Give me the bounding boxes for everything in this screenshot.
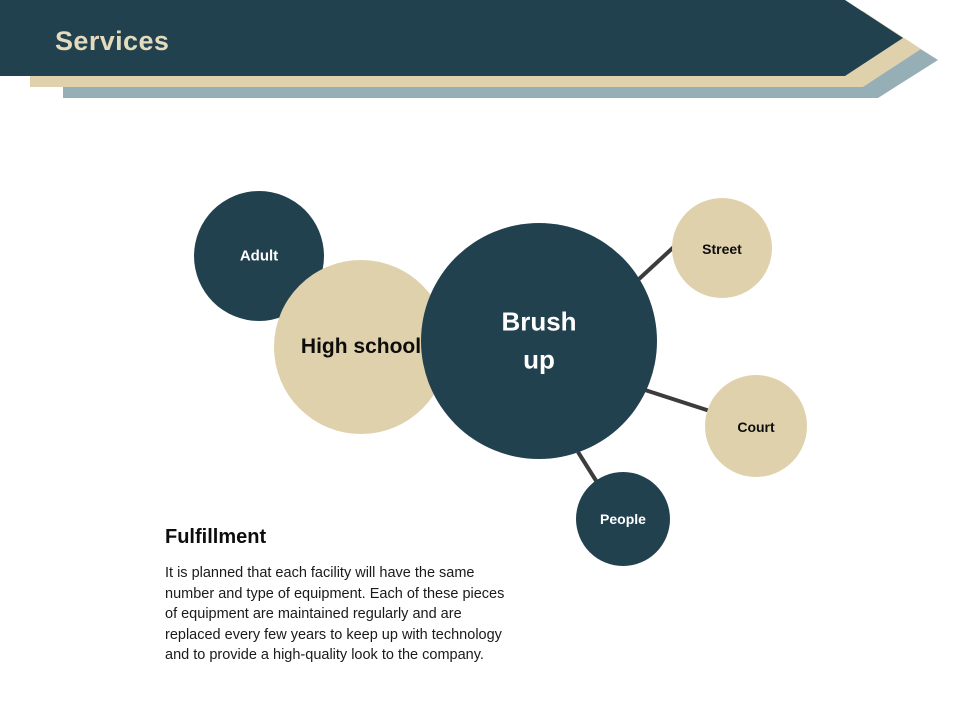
node-circle-court[interactable] xyxy=(705,375,807,477)
content-heading: Fulfillment xyxy=(165,525,515,549)
node-circle-brush-up[interactable] xyxy=(421,223,657,459)
content-text-block: Fulfillment It is planned that each faci… xyxy=(165,525,515,666)
slide-canvas: Services Adult High school Brush up xyxy=(0,0,960,720)
node-circle-people[interactable] xyxy=(576,472,670,566)
connector-brushup-court xyxy=(645,390,716,413)
node-circle-street[interactable] xyxy=(672,198,772,298)
content-body-paragraph: It is planned that each facility will ha… xyxy=(165,563,505,666)
